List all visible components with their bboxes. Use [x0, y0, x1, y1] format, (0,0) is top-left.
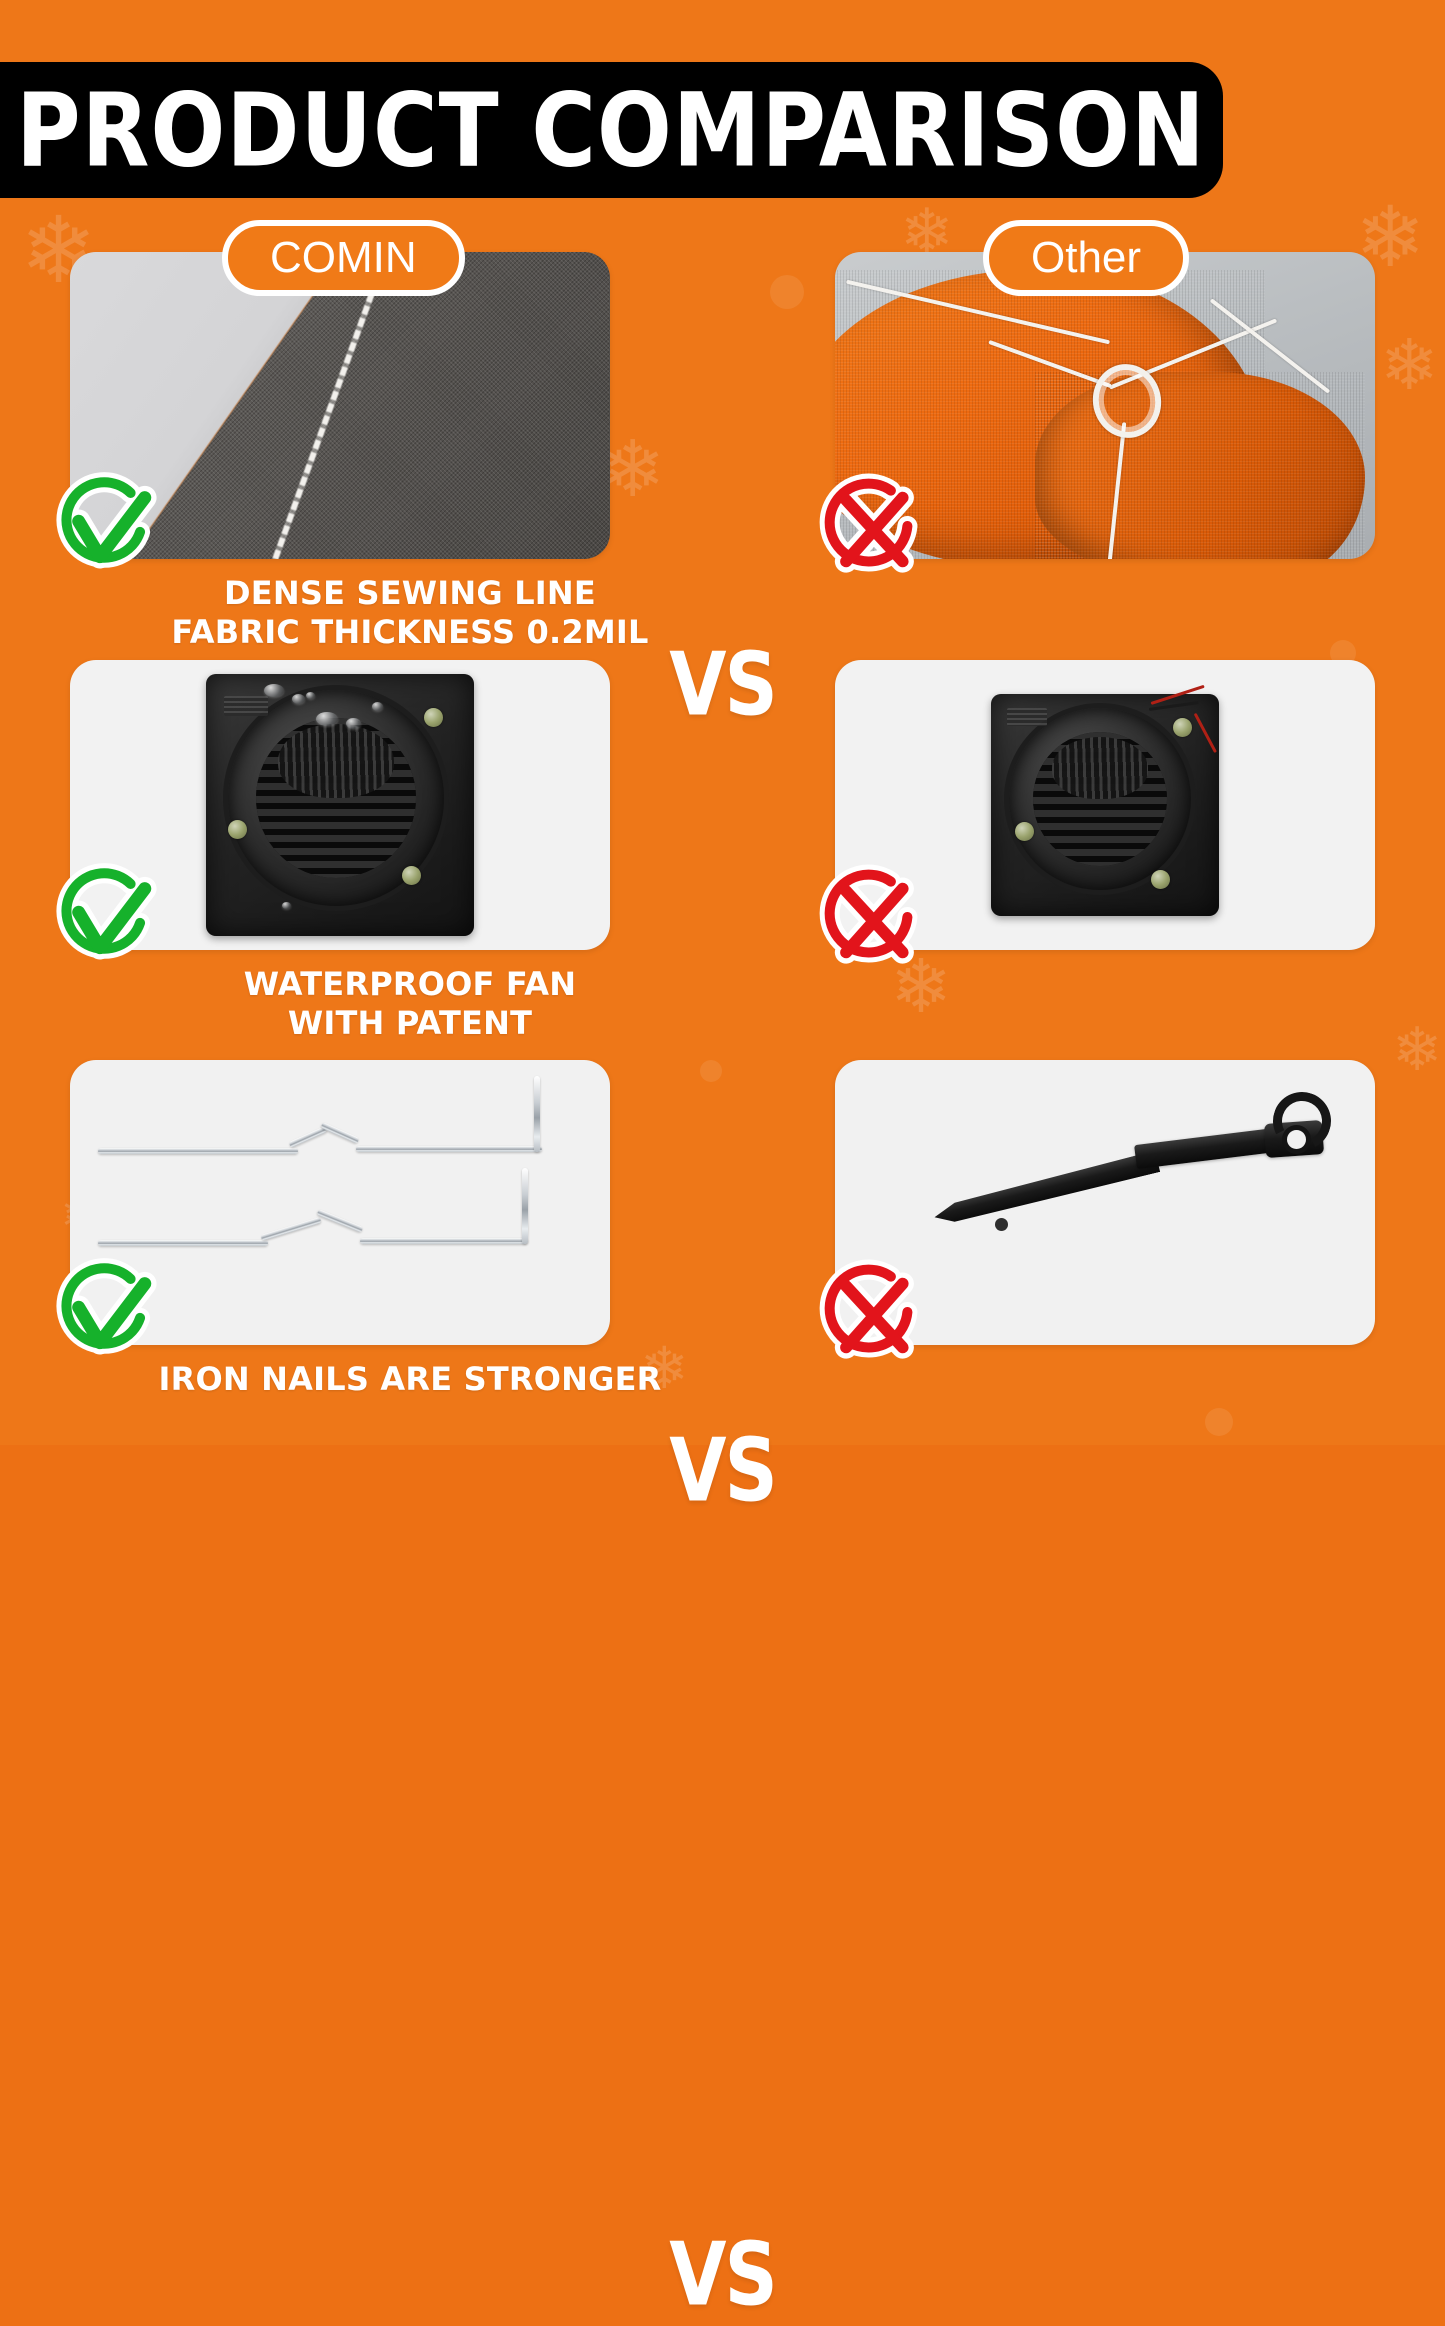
cell-comin-nails: IRON NAILS ARE STRONGER: [70, 1060, 610, 1345]
plastic-stake-hole: [1287, 1130, 1306, 1149]
iron-stake: [360, 1238, 528, 1244]
iron-stake: [98, 1240, 268, 1246]
cross-circle-icon: [813, 467, 931, 585]
cross-circle-icon: [813, 858, 931, 976]
cross-circle-icon: [813, 1253, 931, 1371]
iron-stake: [356, 1146, 542, 1152]
orange-fabric-fold-2: [1035, 372, 1365, 559]
iron-stake: [317, 1209, 364, 1233]
check-circle-icon: [48, 858, 166, 976]
page-title: PRODUCT COMPARISON: [0, 71, 1206, 189]
screw-icon: [1151, 870, 1170, 889]
plastic-stake-shaft: [932, 1151, 1160, 1228]
iron-stake: [260, 1217, 321, 1241]
water-droplet: [282, 902, 291, 909]
plastic-stake-body: [1134, 1127, 1286, 1169]
brand-label-comin: COMIN: [222, 220, 465, 296]
fan-grille: [256, 718, 416, 878]
caption-comin-nails: IRON NAILS ARE STRONGER: [130, 1360, 690, 1399]
check-circle-icon: [48, 467, 166, 585]
screw-icon: [228, 820, 247, 839]
stake-mold-dot: [995, 1218, 1008, 1231]
vs-divider-sewing: VS: [0, 634, 1445, 735]
check-circle-icon: [48, 1253, 166, 1371]
iron-stake: [321, 1122, 360, 1144]
screw-icon: [1015, 822, 1034, 841]
fan-grille: [1033, 732, 1168, 867]
cell-other-nails: PLASTIC NAILS BREAK EASILY: [835, 1060, 1375, 1345]
caption-comin-fan: WATERPROOF FAN WITH PATENT: [130, 965, 690, 1043]
title-banner: PRODUCT COMPARISON: [0, 62, 1223, 198]
vs-divider-nails: VS: [0, 2224, 1445, 2325]
iron-stake: [289, 1126, 328, 1148]
fan-blades: [1052, 737, 1149, 799]
iron-stake: [98, 1148, 298, 1154]
vs-divider-fan: VS: [0, 1420, 1445, 1521]
iron-stake: [534, 1076, 540, 1152]
brand-label-other: Other: [983, 220, 1189, 296]
cell-comin-sewing: COMIN DENSE SEWING LINE FABRIC THICKNESS…: [70, 252, 610, 559]
iron-stake: [522, 1168, 528, 1244]
cell-other-sewing: Other SPARSE SEWING LINE FABRIC THICKNES…: [835, 252, 1375, 559]
comparison-grid: COMIN DENSE SEWING LINE FABRIC THICKNESS…: [0, 0, 1445, 1445]
screw-icon: [402, 866, 421, 885]
